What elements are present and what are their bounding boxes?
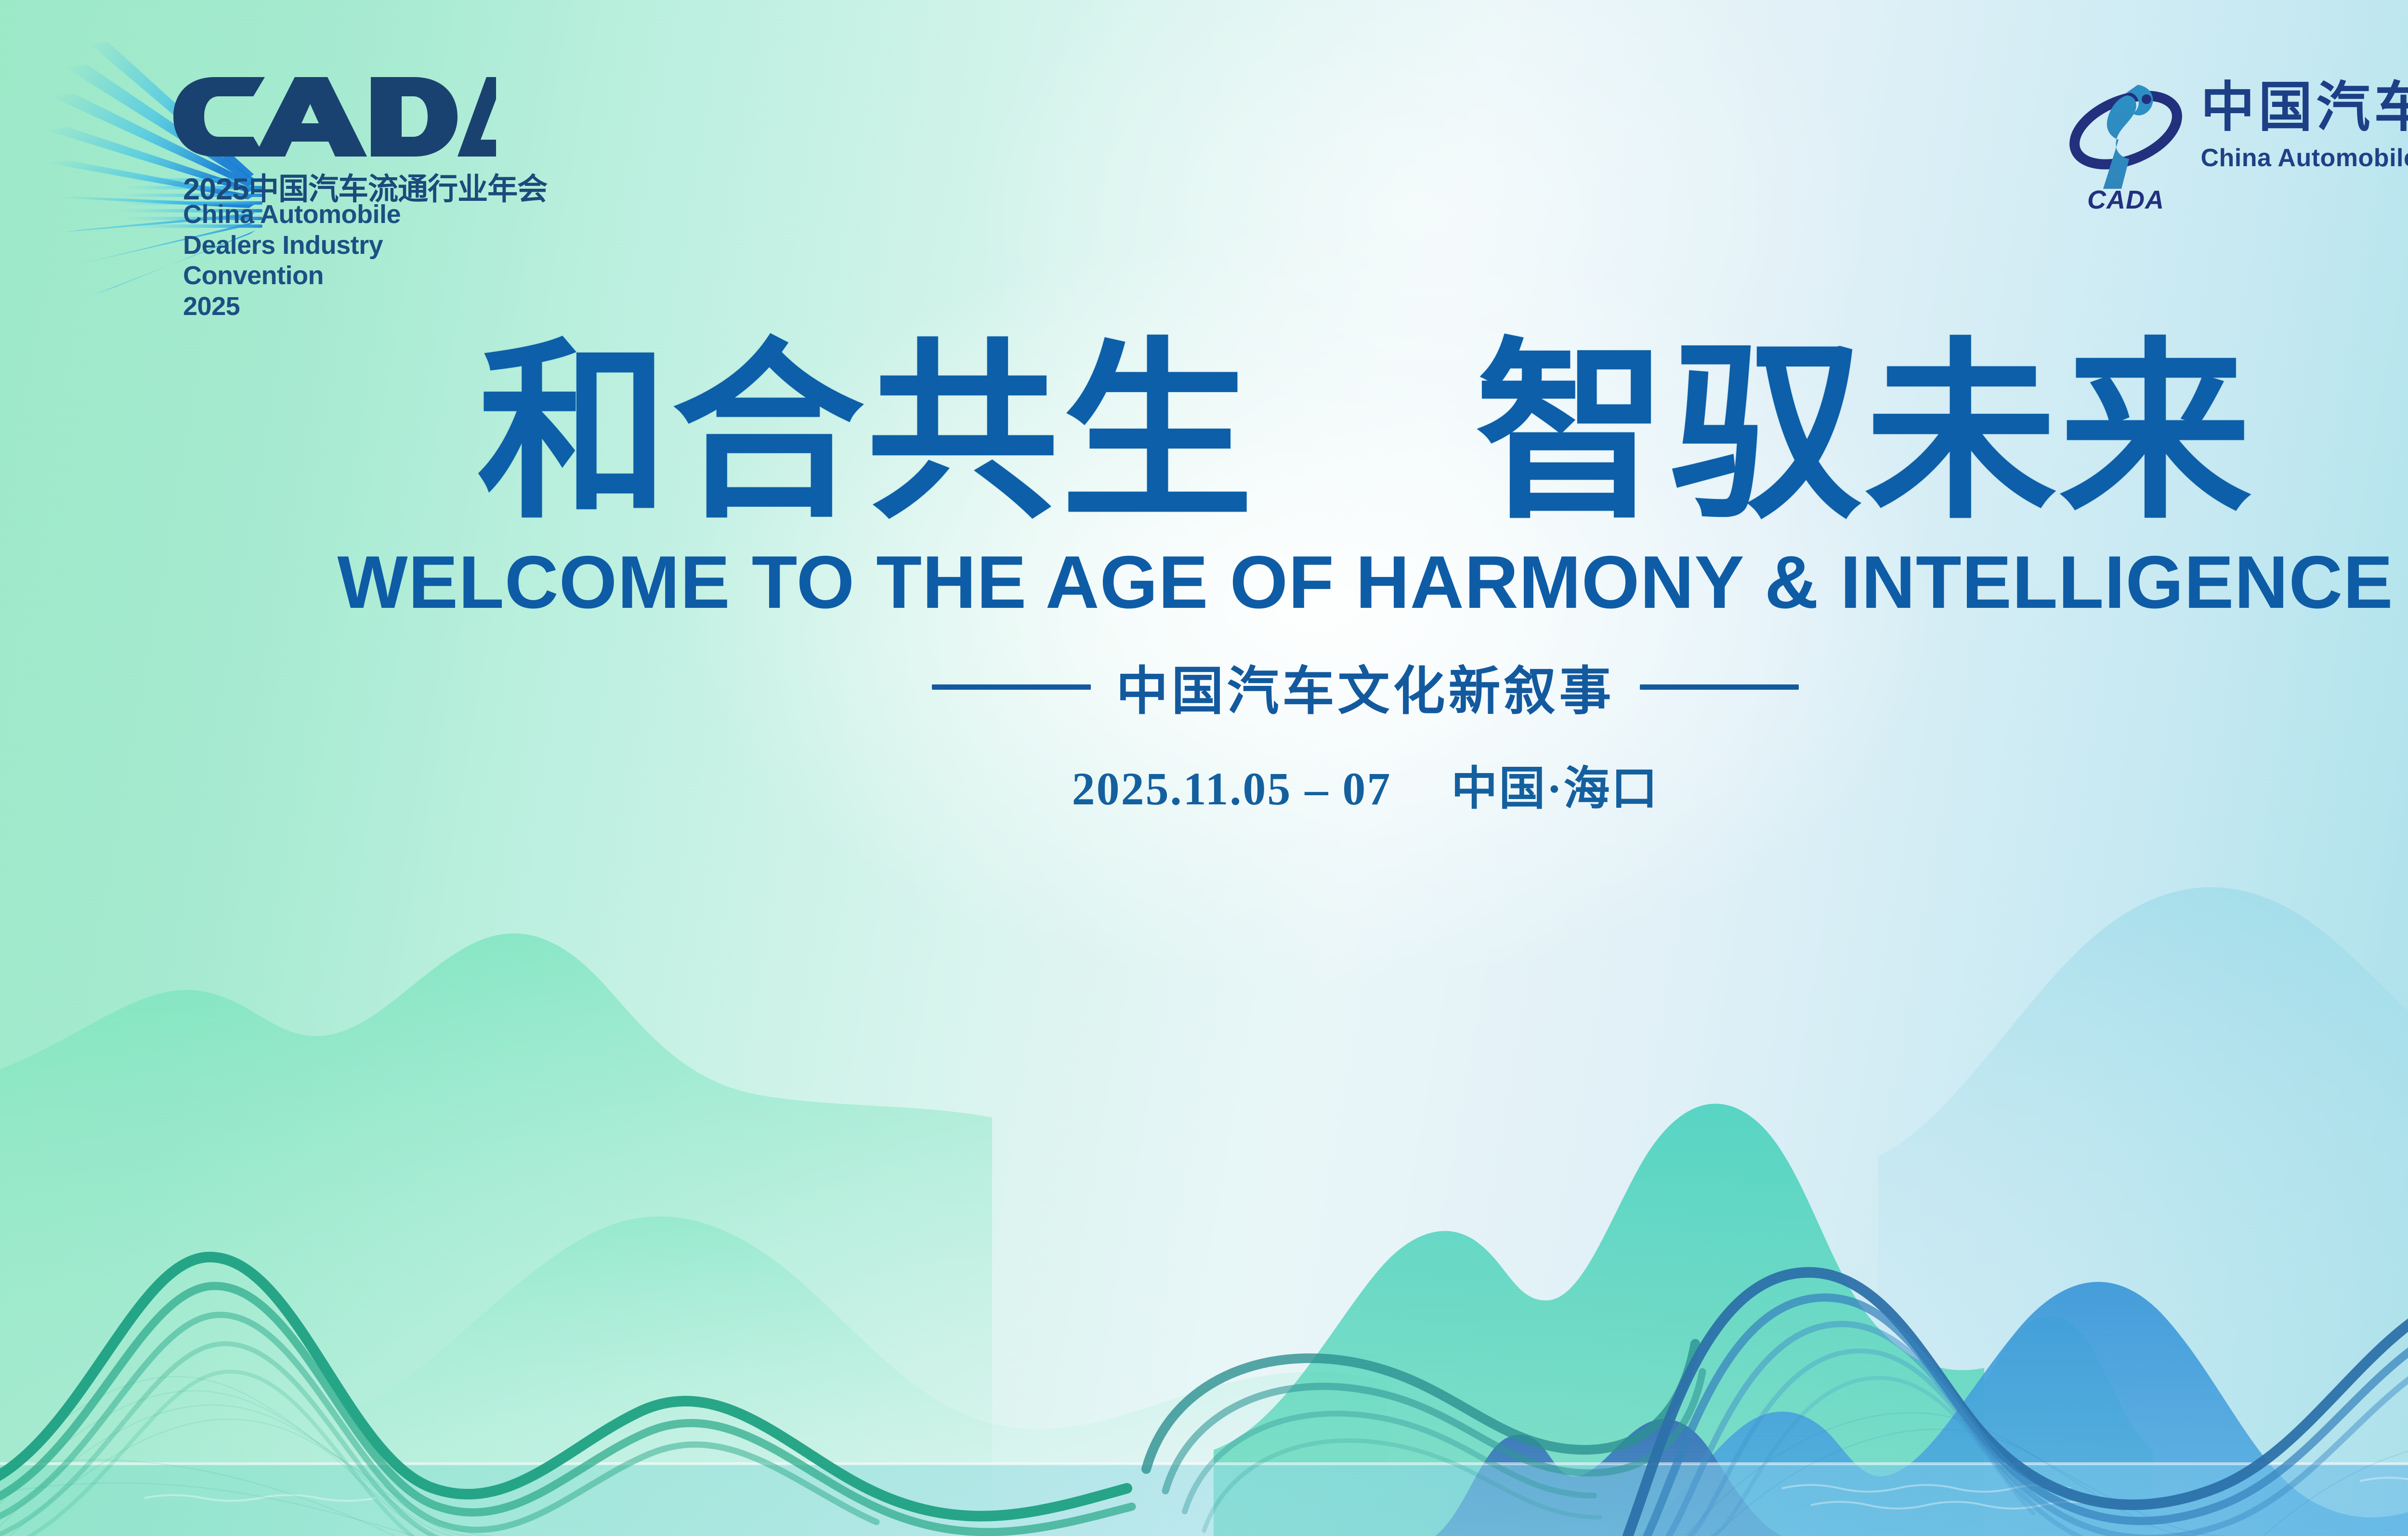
- convention-logo-english-title: China Automobile Dealers Industry Conven…: [183, 199, 482, 322]
- event-location: 中国·海口: [1451, 763, 1659, 814]
- cada-association-logo[interactable]: CADA 中国汽车流通协会 China Automobile Dealers A…: [2066, 67, 2408, 212]
- svg-text:CADA: CADA: [2087, 185, 2164, 212]
- subtitle-rule-right: [1640, 684, 1799, 690]
- headline-chinese-part1: 和合共生: [477, 321, 1256, 545]
- headline-chinese: 和合共生 智驭未来: [0, 332, 2408, 535]
- cada-wordmark-icon: [169, 77, 496, 157]
- event-date: 2025.11.05 – 07: [1072, 763, 1392, 814]
- cada-emblem-icon: CADA: [2066, 67, 2186, 212]
- convention-en-line-3: Convention: [183, 261, 482, 291]
- subtitle-row: 中国汽车文化新叙事: [0, 649, 2408, 724]
- subtitle-rule-left: [932, 684, 1091, 690]
- association-logo-text: 中国汽车流通协会 China Automobile Dealers Associ…: [2200, 67, 2408, 172]
- subtitle-text: 中国汽车文化新叙事: [1116, 649, 1614, 724]
- event-date-location: 2025.11.05 – 07 中国·海口: [0, 751, 2408, 818]
- convention-en-line-4: 2025: [183, 291, 482, 322]
- headline-chinese-part2: 智驭未来: [1475, 321, 2253, 545]
- association-english-name: China Automobile Dealers Association: [2200, 144, 2408, 172]
- convention-en-line-2: Dealers Industry: [183, 230, 482, 261]
- headline-english: WELCOME TO THE AGE OF HARMONY & INTELLIG…: [0, 539, 2408, 625]
- convention-en-line-1: China Automobile: [183, 199, 482, 230]
- cada-convention-logo[interactable]: 2025中国汽车流通行业年会 China Automobile Dealers …: [46, 34, 503, 332]
- conference-banner: 2025中国汽车流通行业年会 China Automobile Dealers …: [0, 0, 2408, 1536]
- headline-block: 和合共生 智驭未来 WELCOME TO THE AGE OF HARMONY …: [0, 332, 2408, 818]
- association-chinese-name: 中国汽车流通协会: [2200, 81, 2408, 135]
